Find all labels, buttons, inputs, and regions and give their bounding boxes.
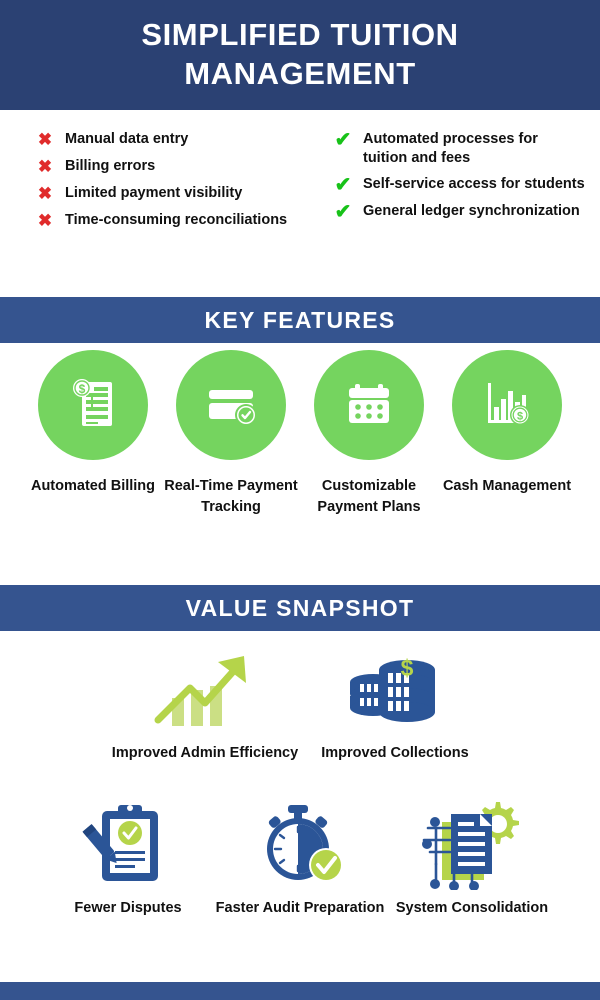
- footer-bar: [0, 982, 600, 1000]
- problem-item: ✖ Time-consuming reconciliations: [34, 211, 288, 231]
- benefit-label: Self-service access for students: [363, 175, 585, 194]
- feature-icon-circle: $: [38, 350, 148, 460]
- feature-label: Automated Billing: [31, 476, 155, 497]
- key-features-title: KEY FEATURES: [204, 307, 395, 334]
- key-features-section: $ Automated Billing: [0, 350, 600, 518]
- value-snapshot-banner: VALUE SNAPSHOT: [0, 585, 600, 631]
- value-fewer-disputes: Fewer Disputes: [42, 800, 214, 919]
- clipboard-check-pen-icon: [80, 799, 176, 894]
- value-improved-collections: $ Improved Collections: [300, 645, 490, 764]
- check-mark-icon: ✔: [332, 175, 354, 195]
- value-snapshot-row-two: Fewer Disputes: [0, 800, 600, 919]
- calendar-icon: [337, 371, 401, 440]
- feature-icon-circle: $: [452, 350, 562, 460]
- check-mark-icon: ✔: [332, 130, 354, 150]
- x-mark-icon: ✖: [34, 184, 56, 204]
- check-mark-icon: ✔: [332, 202, 354, 222]
- benefit-label: General ledger synchronization: [363, 202, 580, 221]
- benefit-item: ✔ General ledger synchronization: [332, 202, 586, 222]
- value-snapshot-title: VALUE SNAPSHOT: [186, 595, 415, 622]
- problem-label: Billing errors: [65, 157, 155, 176]
- x-mark-icon: ✖: [34, 157, 56, 177]
- value-icon-wrap: [252, 800, 348, 892]
- problems-column: ✖ Manual data entry ✖ Billing errors ✖ L…: [0, 112, 298, 295]
- document-gear-network-icon: [422, 798, 522, 895]
- value-icon-wrap: [150, 645, 260, 737]
- svg-text:$: $: [79, 382, 86, 396]
- value-label: System Consolidation: [396, 898, 548, 919]
- value-improved-admin-efficiency: Improved Admin Efficiency: [110, 645, 300, 764]
- svg-text:$: $: [517, 410, 523, 422]
- feature-label: Cash Management: [443, 476, 571, 497]
- x-mark-icon: ✖: [34, 130, 56, 150]
- feature-icon-circle: [314, 350, 424, 460]
- infographic-page: SIMPLIFIED TUITION MANAGEMENT ✖ Manual d…: [0, 0, 600, 1000]
- benefit-label: Automated processes for tuition and fees: [363, 130, 586, 168]
- feature-real-time-payment-tracking: Real-Time Payment Tracking: [162, 350, 300, 518]
- credit-card-check-icon: [199, 371, 263, 440]
- feature-cash-management: $ Cash Management: [438, 350, 576, 497]
- coin-stack-dollar-icon: $: [343, 646, 447, 737]
- benefit-item: ✔ Automated processes for tuition and fe…: [332, 130, 586, 168]
- problem-item: ✖ Manual data entry: [34, 130, 288, 150]
- value-label: Faster Audit Preparation: [216, 898, 385, 919]
- stopwatch-check-icon: [252, 799, 348, 894]
- feature-label: Customizable Payment Plans: [300, 476, 438, 518]
- benefit-item: ✔ Self-service access for students: [332, 175, 586, 195]
- x-mark-icon: ✖: [34, 211, 56, 231]
- feature-label: Real-Time Payment Tracking: [162, 476, 300, 518]
- value-icon-wrap: [80, 800, 176, 892]
- value-system-consolidation: System Consolidation: [386, 800, 558, 919]
- page-title: SIMPLIFIED TUITION MANAGEMENT: [40, 16, 560, 94]
- problem-label: Limited payment visibility: [65, 184, 242, 203]
- value-snapshot-row-one: Improved Admin Efficiency: [0, 645, 600, 764]
- key-features-banner: KEY FEATURES: [0, 297, 600, 343]
- problem-item: ✖ Billing errors: [34, 157, 288, 177]
- feature-automated-billing: $ Automated Billing: [24, 350, 162, 497]
- svg-text:$: $: [401, 655, 414, 681]
- value-label: Fewer Disputes: [74, 898, 181, 919]
- benefits-column: ✔ Automated processes for tuition and fe…: [298, 112, 600, 295]
- feature-icon-circle: [176, 350, 286, 460]
- bar-chart-dollar-icon: $: [475, 371, 539, 440]
- value-label: Improved Admin Efficiency: [112, 743, 298, 764]
- feature-customizable-payment-plans: Customizable Payment Plans: [300, 350, 438, 518]
- problem-item: ✖ Limited payment visibility: [34, 184, 288, 204]
- problem-label: Manual data entry: [65, 130, 188, 149]
- value-faster-audit-preparation: Faster Audit Preparation: [214, 800, 386, 919]
- growth-arrow-chart-icon: [150, 646, 260, 737]
- value-label: Improved Collections: [321, 743, 468, 764]
- problem-label: Time-consuming reconciliations: [65, 211, 287, 230]
- value-icon-wrap: [422, 800, 522, 892]
- value-icon-wrap: $: [343, 645, 447, 737]
- comparison-section: ✖ Manual data entry ✖ Billing errors ✖ L…: [0, 112, 600, 295]
- header-banner: SIMPLIFIED TUITION MANAGEMENT: [0, 0, 600, 110]
- invoice-dollar-icon: $: [61, 371, 125, 440]
